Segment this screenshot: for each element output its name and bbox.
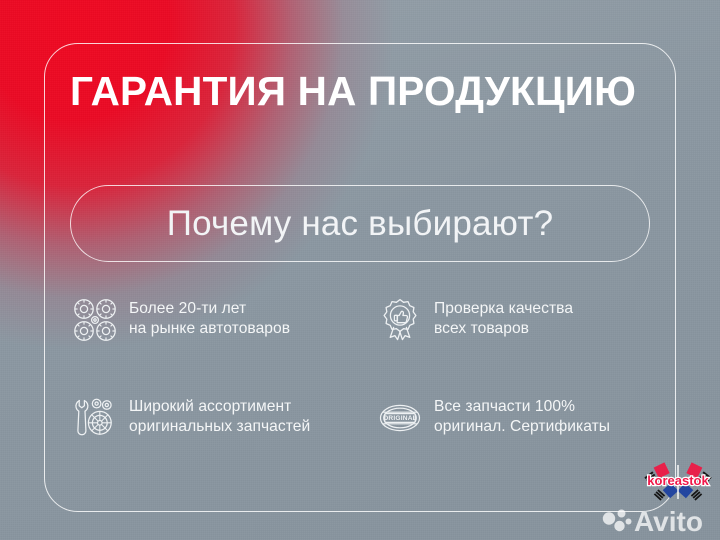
features-grid: Более 20-ти лет на рынке автотоваров Про… xyxy=(72,296,662,441)
banner-title: ГАРАНТИЯ НА ПРОДУКЦИЮ xyxy=(70,71,636,112)
avito-wordmark: Avito xyxy=(634,506,703,537)
quality-badge-thumbsup-icon xyxy=(377,297,423,343)
feature-item-experience: Более 20-ти лет на рынке автотоваров xyxy=(72,296,377,394)
feature-label: Широкий ассортимент оригинальных запчаст… xyxy=(129,394,310,436)
subtitle-text: Почему нас выбирают? xyxy=(167,204,554,244)
feature-item-assortment: Широкий ассортимент оригинальных запчаст… xyxy=(72,394,377,441)
koreastok-wordmark: koreastok xyxy=(647,473,709,488)
svg-text:ORIGINAL: ORIGINAL xyxy=(383,415,417,422)
avito-watermark: Avito xyxy=(600,505,716,537)
avito-dots-icon xyxy=(603,510,632,532)
four-gears-icon xyxy=(72,297,118,343)
feature-item-quality: Проверка качества всех товаров xyxy=(377,296,662,394)
koreastok-logo: koreastok xyxy=(643,457,713,505)
feature-label: Все запчасти 100% оригинал. Сертификаты xyxy=(434,394,610,436)
feature-label: Более 20-ти лет на рынке автотоваров xyxy=(129,296,290,338)
feature-item-original: ORIGINAL Все запчасти 100% оригинал. Сер… xyxy=(377,394,662,441)
wrench-gear-icon xyxy=(72,395,118,441)
banner-canvas: ГАРАНТИЯ НА ПРОДУКЦИЮ Почему нас выбираю… xyxy=(0,0,720,540)
original-stamp-icon: ORIGINAL xyxy=(377,395,423,441)
feature-label: Проверка качества всех товаров xyxy=(434,296,573,338)
subtitle-pill: Почему нас выбирают? xyxy=(70,185,650,262)
